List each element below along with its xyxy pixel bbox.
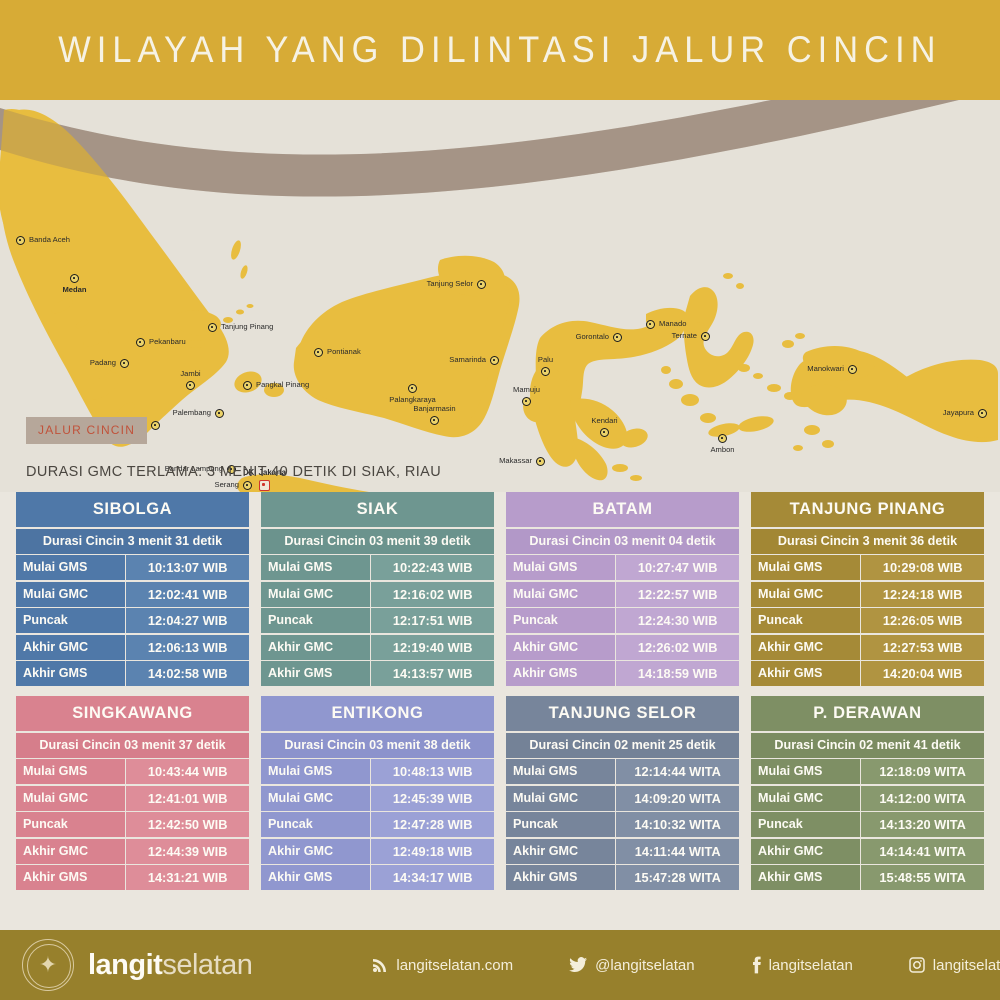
social-label: langitselatanmedia (933, 957, 1000, 974)
city-dot-icon (613, 333, 622, 342)
table-row: Puncak12:24:30 WIB (506, 608, 739, 633)
city-label: Tanjung Selor (427, 279, 473, 288)
city-marker-bengkulu: Bengkulu (151, 421, 160, 430)
social-link-twitter[interactable]: @langitselatan (569, 957, 694, 974)
city-marker-manado: Manado (646, 320, 655, 329)
table-row: Mulai GMS10:13:07 WIB (16, 555, 249, 580)
table-row: Akhir GMC12:44:39 WIB (16, 839, 249, 864)
row-time: 12:47:28 WIB (371, 812, 494, 837)
indonesia-map: Banda AcehMedanPekanbaruTanjung PinangPa… (0, 100, 1000, 492)
row-label: Puncak (16, 812, 125, 837)
legend-jalur-cincin: JALUR CINCIN (26, 417, 147, 444)
city-label: Palangkaraya (389, 395, 435, 404)
row-label: Akhir GMC (506, 839, 615, 864)
row-time: 12:19:40 WIB (371, 635, 494, 660)
city-dot-icon (151, 421, 160, 430)
row-time: 12:16:02 WIB (371, 582, 494, 607)
city-marker-pontianak: Pontianak (314, 348, 323, 357)
row-time: 12:06:13 WIB (126, 635, 249, 660)
table-row: Puncak12:42:50 WIB (16, 812, 249, 837)
social-label: @langitselatan (595, 957, 694, 974)
row-label: Mulai GMS (751, 759, 860, 784)
city-dot-icon (978, 409, 987, 418)
row-time: 14:13:20 WITA (861, 812, 984, 837)
city-marker-banda-aceh: Banda Aceh (16, 236, 25, 245)
table-row: Akhir GMS14:13:57 WIB (261, 661, 494, 686)
card-tanjung-selor: TANJUNG SELORDurasi Cincin 02 menit 25 d… (506, 696, 739, 890)
city-marker-jambi: Jambi (186, 381, 195, 390)
city-label: Banda Aceh (29, 235, 70, 244)
row-time: 12:18:09 WITA (861, 759, 984, 784)
row-time: 12:41:01 WIB (126, 786, 249, 811)
city-marker-kendari: Kendari (600, 428, 609, 437)
city-label: Pangkal Pinang (256, 380, 309, 389)
table-row: Akhir GMC14:14:41 WITA (751, 839, 984, 864)
row-label: Mulai GMC (16, 582, 125, 607)
city-label: Serang (215, 480, 240, 489)
city-dot-icon (848, 365, 857, 374)
city-dot-icon (215, 409, 224, 418)
row-label: Mulai GMS (16, 555, 125, 580)
city-dot-icon (430, 416, 439, 425)
city-dot-icon (120, 359, 129, 368)
legend-label: JALUR CINCIN (38, 423, 135, 437)
table-row: Puncak14:10:32 WITA (506, 812, 739, 837)
facebook-icon (751, 956, 761, 974)
card-tanjung-pinang: TANJUNG PINANGDurasi Cincin 3 menit 36 d… (751, 492, 984, 686)
card-duration: Durasi Cincin 02 menit 25 detik (506, 733, 739, 758)
city-dot-icon (522, 397, 531, 406)
city-dot-icon (259, 480, 270, 491)
table-row: Mulai GMC12:22:57 WIB (506, 582, 739, 607)
city-label: Tanjung Pinang (221, 322, 273, 331)
city-marker-makassar: Makassar (536, 457, 545, 466)
card-batam: BATAMDurasi Cincin 03 menit 04 detikMula… (506, 492, 739, 686)
card-title: SIAK (261, 492, 494, 527)
social-label: langitselatan (769, 957, 853, 974)
card-duration: Durasi Cincin 3 menit 31 detik (16, 529, 249, 554)
card-duration: Durasi Cincin 03 menit 37 detik (16, 733, 249, 758)
city-label: Mamuju (513, 385, 540, 394)
social-link-instagram[interactable]: langitselatanmedia (909, 957, 1000, 974)
social-label: langitselatan.com (396, 957, 513, 974)
row-label: Mulai GMS (506, 759, 615, 784)
city-label: Palembang (173, 408, 211, 417)
card-title: SIBOLGA (16, 492, 249, 527)
city-label: Makassar (499, 456, 532, 465)
card-singkawang: SINGKAWANGDurasi Cincin 03 menit 37 deti… (16, 696, 249, 890)
city-marker-palu: Palu (541, 367, 550, 376)
city-label: Pontianak (327, 347, 361, 356)
city-marker-ternate: Ternate (701, 332, 710, 341)
table-row: Akhir GMC12:26:02 WIB (506, 635, 739, 660)
city-label: Samarinda (449, 355, 486, 364)
row-time: 10:29:08 WIB (861, 555, 984, 580)
row-time: 15:48:55 WITA (861, 865, 984, 890)
social-link-rss[interactable]: langitselatan.com (372, 957, 513, 974)
row-time: 14:31:21 WIB (126, 865, 249, 890)
row-label: Akhir GMS (751, 865, 860, 890)
city-marker-padang: Padang (120, 359, 129, 368)
row-label: Puncak (261, 812, 370, 837)
city-label: Ambon (710, 445, 734, 454)
card-title: SINGKAWANG (16, 696, 249, 731)
city-dot-icon (646, 320, 655, 329)
row-label: Akhir GMS (751, 661, 860, 686)
row-label: Mulai GMC (751, 786, 860, 811)
city-dot-icon (186, 381, 195, 390)
row-label: Mulai GMS (751, 555, 860, 580)
row-time: 12:04:27 WIB (126, 608, 249, 633)
city-marker-ambon: Ambon (718, 434, 727, 443)
city-marker-gorontalo: Gorontalo (613, 333, 622, 342)
row-label: Mulai GMC (261, 582, 370, 607)
row-label: Akhir GMS (16, 865, 125, 890)
row-time: 12:26:02 WIB (616, 635, 739, 660)
table-row: Mulai GMC12:45:39 WIB (261, 786, 494, 811)
city-dot-icon (600, 428, 609, 437)
city-marker-pangkal-pinang: Pangkal Pinang (243, 381, 252, 390)
row-time: 14:10:32 WITA (616, 812, 739, 837)
instagram-icon (909, 957, 925, 973)
row-label: Mulai GMC (261, 786, 370, 811)
card-p-derawan: P. DERAWANDurasi Cincin 02 menit 41 deti… (751, 696, 984, 890)
city-label: Manado (659, 319, 686, 328)
city-dot-icon (477, 280, 486, 289)
row-time: 12:14:44 WITA (616, 759, 739, 784)
row-label: Akhir GMC (261, 839, 370, 864)
row-time: 12:49:18 WIB (371, 839, 494, 864)
row-time: 12:24:18 WIB (861, 582, 984, 607)
city-label: Padang (90, 358, 116, 367)
table-row: Mulai GMC14:09:20 WITA (506, 786, 739, 811)
row-label: Puncak (261, 608, 370, 633)
city-label: Jambi (180, 369, 200, 378)
table-row: Akhir GMS14:20:04 WIB (751, 661, 984, 686)
row-label: Mulai GMS (261, 759, 370, 784)
city-dot-icon (70, 274, 79, 283)
row-label: Puncak (506, 608, 615, 633)
table-row: Puncak12:04:27 WIB (16, 608, 249, 633)
city-marker-samarinda: Samarinda (490, 356, 499, 365)
city-label: Pekanbaru (149, 337, 186, 346)
row-time: 14:02:58 WIB (126, 661, 249, 686)
row-time: 12:02:41 WIB (126, 582, 249, 607)
city-label: Manokwari (807, 364, 844, 373)
card-sibolga: SIBOLGADurasi Cincin 3 menit 31 detikMul… (16, 492, 249, 686)
card-title: TANJUNG PINANG (751, 492, 984, 527)
city-label: Palu (538, 355, 553, 364)
header-banner: WILAYAH YANG DILINTASI JALUR CINCIN (0, 0, 1000, 100)
table-row: Mulai GMS10:27:47 WIB (506, 555, 739, 580)
row-time: 12:45:39 WIB (371, 786, 494, 811)
table-row: Akhir GMC12:19:40 WIB (261, 635, 494, 660)
row-time: 10:48:13 WIB (371, 759, 494, 784)
table-row: Mulai GMC12:02:41 WIB (16, 582, 249, 607)
row-time: 12:22:57 WIB (616, 582, 739, 607)
row-label: Mulai GMS (16, 759, 125, 784)
row-time: 12:44:39 WIB (126, 839, 249, 864)
city-label: Ternate (672, 331, 697, 340)
city-marker-medan: Medan (70, 274, 79, 283)
city-marker-banjarmasin: Banjarmasin (430, 416, 439, 425)
city-marker-tanjung-pinang: Tanjung Pinang (208, 323, 217, 332)
row-label: Puncak (16, 608, 125, 633)
row-label: Mulai GMC (16, 786, 125, 811)
row-time: 12:17:51 WIB (371, 608, 494, 633)
row-label: Akhir GMC (751, 839, 860, 864)
card-entikong: ENTIKONGDurasi Cincin 03 menit 38 detikM… (261, 696, 494, 890)
row-time: 14:20:04 WIB (861, 661, 984, 686)
table-row: Mulai GMC14:12:00 WITA (751, 786, 984, 811)
map-graphic (0, 100, 1000, 492)
row-label: Mulai GMC (506, 582, 615, 607)
row-time: 14:18:59 WIB (616, 661, 739, 686)
row-label: Mulai GMC (751, 582, 860, 607)
table-row: Akhir GMC14:11:44 WITA (506, 839, 739, 864)
card-title: BATAM (506, 492, 739, 527)
table-row: Akhir GMS15:47:28 WITA (506, 865, 739, 890)
city-dot-icon (136, 338, 145, 347)
table-row: Mulai GMS10:43:44 WIB (16, 759, 249, 784)
seal-glyph: ✦ (23, 940, 73, 990)
row-label: Akhir GMS (506, 661, 615, 686)
card-title: TANJUNG SELOR (506, 696, 739, 731)
twitter-icon (569, 957, 587, 973)
city-dot-icon (490, 356, 499, 365)
row-label: Akhir GMC (506, 635, 615, 660)
social-link-facebook[interactable]: langitselatan (751, 956, 853, 974)
row-label: Akhir GMC (751, 635, 860, 660)
row-time: 12:26:05 WIB (861, 608, 984, 633)
rss-icon (372, 957, 388, 973)
footer-bar: ✦ langitselatan langitselatan.com@langit… (0, 930, 1000, 1000)
card-duration: Durasi Cincin 03 menit 39 detik (261, 529, 494, 554)
city-dot-icon (208, 323, 217, 332)
row-time: 12:27:53 WIB (861, 635, 984, 660)
city-marker-jayapura: Jayapura (978, 409, 987, 418)
table-row: Akhir GMS15:48:55 WITA (751, 865, 984, 890)
city-label: Banjarmasin (413, 404, 455, 413)
row-time: 14:13:57 WIB (371, 661, 494, 686)
map-caption: DURASI GMC TERLAMA: 3 MENIT 40 DETIK DI … (26, 464, 441, 480)
table-row: Mulai GMC12:41:01 WIB (16, 786, 249, 811)
city-marker-pekanbaru: Pekanbaru (136, 338, 145, 347)
city-label: Gorontalo (576, 332, 609, 341)
row-time: 10:43:44 WIB (126, 759, 249, 784)
row-time: 14:11:44 WITA (616, 839, 739, 864)
langitselatan-seal-icon: ✦ (22, 939, 74, 991)
row-label: Akhir GMS (16, 661, 125, 686)
card-duration: Durasi Cincin 03 menit 38 detik (261, 733, 494, 758)
infographic-page: WILAYAH YANG DILINTASI JALUR CINCIN (0, 0, 1000, 1000)
brand-bold-text: langit (88, 949, 162, 981)
city-label: Medan (62, 285, 86, 294)
table-row: Mulai GMS12:14:44 WITA (506, 759, 739, 784)
table-row: Akhir GMC12:49:18 WIB (261, 839, 494, 864)
brand-block: ✦ langitselatan (22, 939, 252, 991)
row-label: Puncak (506, 812, 615, 837)
city-marker-palangkaraya: Palangkaraya (408, 384, 417, 393)
row-time: 10:27:47 WIB (616, 555, 739, 580)
table-row: Akhir GMS14:31:21 WIB (16, 865, 249, 890)
city-marker-manokwari: Manokwari (848, 365, 857, 374)
city-dot-icon (314, 348, 323, 357)
row-time: 10:22:43 WIB (371, 555, 494, 580)
table-row: Akhir GMC12:27:53 WIB (751, 635, 984, 660)
table-row: Puncak12:26:05 WIB (751, 608, 984, 633)
city-dot-icon (718, 434, 727, 443)
table-row: Mulai GMS10:48:13 WIB (261, 759, 494, 784)
row-label: Puncak (751, 812, 860, 837)
brand-wordmark: langitselatan (88, 951, 252, 980)
city-dot-icon (16, 236, 25, 245)
row-time: 10:13:07 WIB (126, 555, 249, 580)
table-row: Akhir GMC12:06:13 WIB (16, 635, 249, 660)
card-duration: Durasi Cincin 03 menit 04 detik (506, 529, 739, 554)
row-time: 14:34:17 WIB (371, 865, 494, 890)
card-title: P. DERAWAN (751, 696, 984, 731)
row-time: 12:42:50 WIB (126, 812, 249, 837)
table-row: Puncak12:17:51 WIB (261, 608, 494, 633)
table-row: Akhir GMS14:02:58 WIB (16, 661, 249, 686)
social-links: langitselatan.com@langitselatanlangitsel… (372, 956, 1000, 974)
city-marker-mamuju: Mamuju (522, 397, 531, 406)
row-time: 12:24:30 WIB (616, 608, 739, 633)
card-title: ENTIKONG (261, 696, 494, 731)
city-label: Jayapura (943, 408, 974, 417)
row-label: Puncak (751, 608, 860, 633)
card-duration: Durasi Cincin 3 menit 36 detik (751, 529, 984, 554)
city-dot-icon (408, 384, 417, 393)
page-title: WILAYAH YANG DILINTASI JALUR CINCIN (58, 29, 941, 71)
city-dot-icon (243, 481, 252, 490)
row-label: Akhir GMC (16, 839, 125, 864)
city-timing-cards: SIBOLGADurasi Cincin 3 menit 31 detikMul… (0, 492, 1000, 890)
table-row: Mulai GMS10:29:08 WIB (751, 555, 984, 580)
city-marker-dki-jakarta: DKI Jakarta (259, 480, 270, 491)
row-label: Mulai GMS (506, 555, 615, 580)
row-label: Akhir GMC (16, 635, 125, 660)
row-label: Akhir GMC (261, 635, 370, 660)
row-time: 14:09:20 WITA (616, 786, 739, 811)
city-dot-icon (536, 457, 545, 466)
table-row: Mulai GMC12:16:02 WIB (261, 582, 494, 607)
table-row: Mulai GMS10:22:43 WIB (261, 555, 494, 580)
table-row: Puncak14:13:20 WITA (751, 812, 984, 837)
row-time: 15:47:28 WITA (616, 865, 739, 890)
row-label: Akhir GMS (261, 865, 370, 890)
row-label: Akhir GMS (261, 661, 370, 686)
city-dot-icon (701, 332, 710, 341)
row-time: 14:14:41 WITA (861, 839, 984, 864)
table-row: Akhir GMS14:34:17 WIB (261, 865, 494, 890)
city-marker-palembang: Palembang (215, 409, 224, 418)
table-row: Mulai GMS12:18:09 WITA (751, 759, 984, 784)
row-label: Mulai GMC (506, 786, 615, 811)
card-duration: Durasi Cincin 02 menit 41 detik (751, 733, 984, 758)
city-marker-tanjung-selor: Tanjung Selor (477, 280, 486, 289)
row-label: Akhir GMS (506, 865, 615, 890)
city-dot-icon (243, 381, 252, 390)
table-row: Mulai GMC12:24:18 WIB (751, 582, 984, 607)
city-marker-serang: Serang (243, 481, 252, 490)
table-row: Puncak12:47:28 WIB (261, 812, 494, 837)
brand-light-text: selatan (162, 949, 252, 981)
row-label: Mulai GMS (261, 555, 370, 580)
city-dot-icon (541, 367, 550, 376)
card-siak: SIAKDurasi Cincin 03 menit 39 detikMulai… (261, 492, 494, 686)
row-time: 14:12:00 WITA (861, 786, 984, 811)
table-row: Akhir GMS14:18:59 WIB (506, 661, 739, 686)
city-label: Kendari (591, 416, 617, 425)
